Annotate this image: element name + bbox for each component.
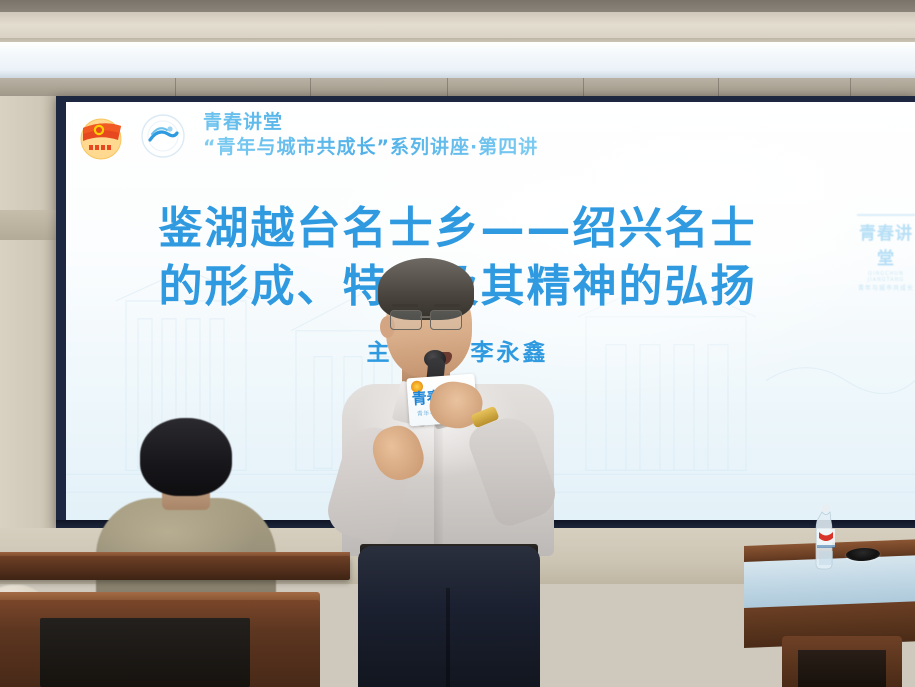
slide-title-line-1: 鉴湖越台名士乡——绍兴名士 <box>0 200 915 258</box>
slide-brand-title: 青春讲堂 <box>203 111 538 135</box>
lecture-hall-photo: 青春讲堂 QINGCHUN JIANGTANG 青年与城市共成长 <box>0 0 915 687</box>
slide-header: 青春讲堂 “青年与城市共成长”系列讲座·第四讲 <box>75 110 538 162</box>
ceiling-light-strip <box>0 42 915 80</box>
water-bottle <box>814 505 838 571</box>
back-desk <box>0 556 350 580</box>
slide-series-subtitle: “青年与城市共成长”系列讲座·第四讲 <box>203 135 538 161</box>
speaker-eyebrow-right <box>434 304 460 307</box>
right-chair-seat <box>798 650 886 687</box>
shaoxing-circular-emblem-icon <box>137 110 189 162</box>
speaker-glasses-icon <box>390 310 470 328</box>
communist-youth-league-emblem-icon <box>75 110 127 162</box>
speaker-shirt-placket <box>434 408 443 558</box>
speaker-eyebrow-left <box>392 304 418 307</box>
front-desk-panel <box>40 618 250 687</box>
ceiling-soffit <box>0 12 915 40</box>
speaker: 青春讲堂 青年与城市共成长 <box>330 258 580 687</box>
audience-head <box>140 418 232 496</box>
speaker-trouser-crease <box>446 588 450 687</box>
